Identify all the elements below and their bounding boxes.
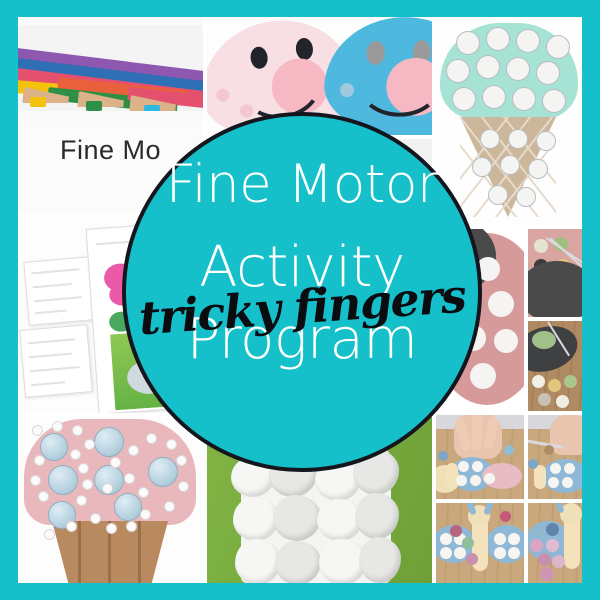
collage-tile-tweezers-photo-top: [528, 229, 582, 319]
collage-tile-ice-cream-cone: [436, 17, 582, 225]
colored-pencils-photo: [18, 25, 203, 123]
collage-seam-vertical-3: [524, 229, 528, 583]
collage-tile-butterfly-photo-3: [436, 503, 524, 583]
collage-tile-butterfly-photo-4: [528, 503, 582, 583]
worksheet-page-a: [23, 256, 96, 326]
collage-tile-butterfly-photo-2: [528, 415, 582, 499]
collage-seam-horizontal-6: [436, 411, 582, 415]
worksheet-page-b: [19, 324, 93, 398]
cover-image: Fine Mo: [0, 0, 600, 600]
pencils-card-caption: Fine Mo: [18, 135, 203, 166]
center-badge-circle: [122, 112, 482, 472]
collage-seam-horizontal-7: [528, 317, 582, 321]
collage-seam-horizontal-8: [436, 499, 582, 503]
collage-tile-butterfly-photo-1: [436, 415, 524, 499]
collage-tile-cupcake-craft: [18, 417, 203, 583]
collage-tile-tweezers-photo-bottom: [528, 321, 582, 411]
